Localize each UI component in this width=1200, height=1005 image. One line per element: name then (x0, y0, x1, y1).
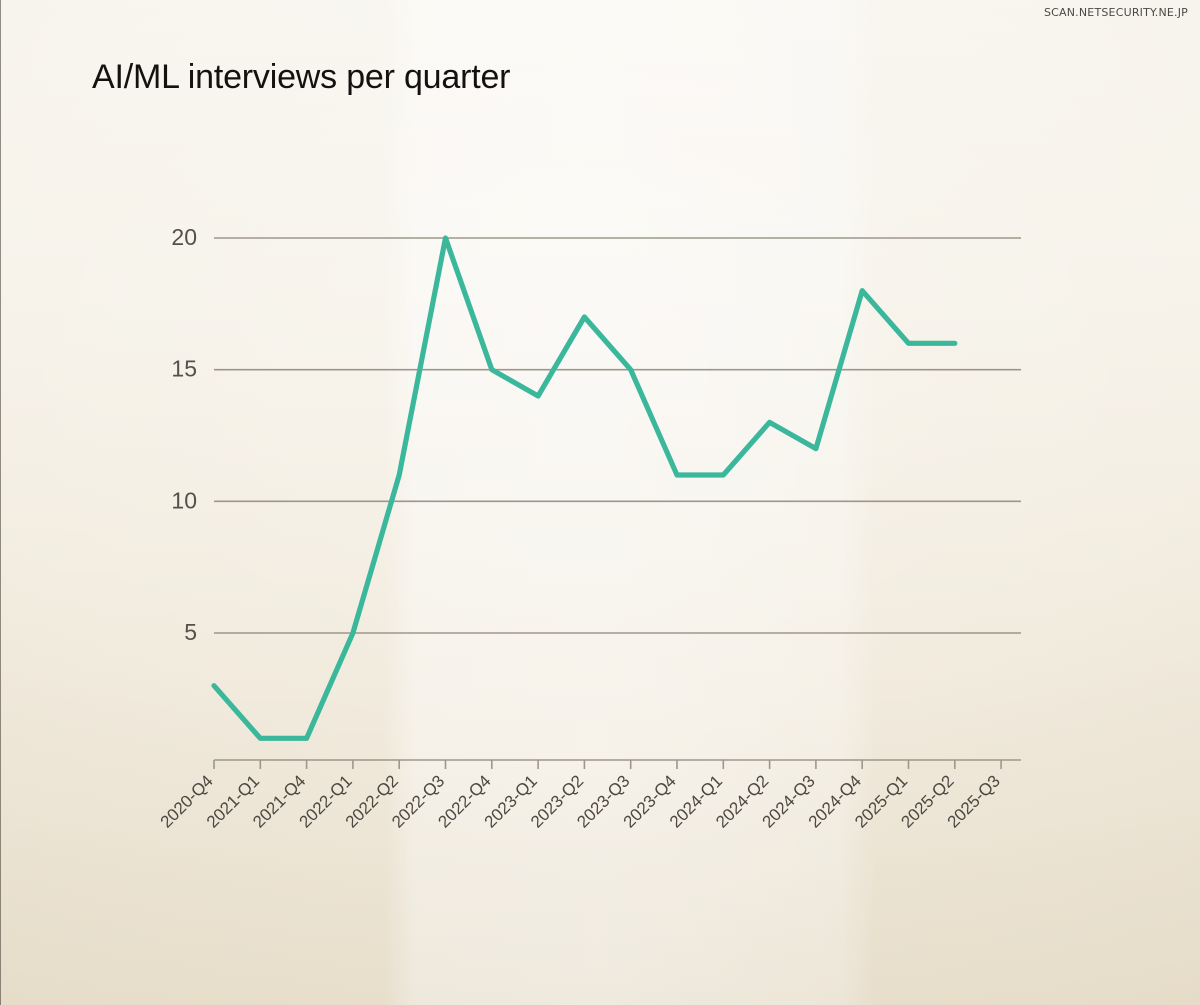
x-axis-tick-labels: 2020-Q42021-Q12021-Q42022-Q12022-Q22022-… (157, 771, 1004, 831)
y-axis-tick-label: 20 (171, 224, 197, 250)
x-axis-tick-marks (214, 760, 1001, 769)
line-chart: 5101520 2020-Q42021-Q12021-Q42022-Q12022… (0, 0, 1200, 1005)
y-axis-tick-label: 5 (184, 619, 197, 645)
y-axis-tick-labels: 5101520 (171, 224, 197, 645)
data-series (214, 238, 955, 738)
y-axis-tick-label: 10 (171, 487, 197, 513)
series-line (214, 238, 955, 738)
y-axis-tick-label: 15 (171, 356, 197, 382)
gridlines (214, 238, 1021, 633)
